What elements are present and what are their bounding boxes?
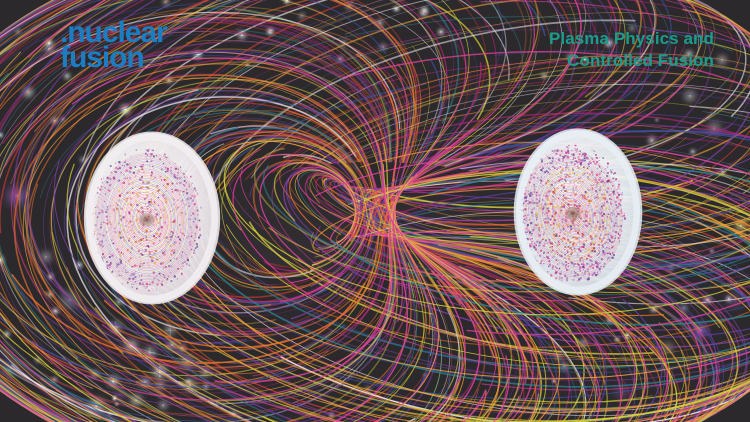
puncture-point bbox=[543, 195, 545, 197]
puncture-point bbox=[182, 207, 183, 208]
puncture-point bbox=[563, 204, 565, 206]
puncture-point bbox=[181, 226, 182, 227]
puncture-point bbox=[570, 243, 571, 244]
puncture-point bbox=[606, 201, 608, 203]
puncture-point bbox=[538, 229, 540, 231]
puncture-point bbox=[128, 183, 130, 185]
puncture-point bbox=[599, 238, 601, 240]
puncture-point bbox=[584, 244, 586, 246]
puncture-point bbox=[160, 275, 161, 276]
puncture-point bbox=[549, 184, 550, 185]
puncture-point bbox=[550, 196, 551, 197]
puncture-point bbox=[599, 157, 600, 158]
puncture-point bbox=[529, 243, 530, 244]
puncture-point bbox=[142, 208, 144, 210]
puncture-point bbox=[197, 210, 199, 212]
puncture-point bbox=[593, 244, 595, 246]
puncture-point bbox=[574, 163, 576, 165]
puncture-point bbox=[143, 285, 145, 287]
puncture-point bbox=[579, 205, 581, 207]
puncture-point bbox=[117, 168, 119, 170]
puncture-point bbox=[537, 252, 538, 253]
puncture-point bbox=[592, 187, 593, 188]
puncture-point bbox=[594, 181, 596, 183]
puncture-point bbox=[138, 226, 140, 228]
puncture-point bbox=[109, 251, 110, 252]
puncture-point bbox=[140, 207, 141, 208]
puncture-point bbox=[575, 149, 577, 151]
puncture-point bbox=[586, 263, 588, 265]
puncture-point bbox=[562, 240, 564, 242]
puncture-point bbox=[126, 164, 128, 166]
puncture-point bbox=[158, 222, 160, 224]
puncture-point bbox=[575, 272, 577, 274]
puncture-point bbox=[124, 162, 126, 164]
puncture-point bbox=[555, 235, 557, 237]
puncture-point bbox=[599, 173, 601, 175]
puncture-point bbox=[133, 233, 134, 234]
puncture-point bbox=[165, 244, 167, 246]
puncture-point bbox=[182, 262, 184, 264]
puncture-point bbox=[570, 195, 571, 196]
puncture-point bbox=[541, 158, 543, 160]
puncture-point bbox=[574, 161, 575, 162]
puncture-point bbox=[151, 210, 152, 211]
puncture-point bbox=[577, 232, 579, 234]
puncture-point bbox=[166, 157, 167, 158]
puncture-point bbox=[109, 253, 110, 254]
puncture-point bbox=[187, 177, 188, 178]
puncture-point bbox=[544, 237, 545, 238]
puncture-point bbox=[590, 235, 592, 237]
puncture-point bbox=[562, 241, 563, 242]
puncture-point bbox=[548, 266, 549, 267]
puncture-point bbox=[157, 283, 159, 285]
puncture-point bbox=[177, 178, 179, 180]
puncture-point bbox=[162, 216, 164, 218]
puncture-point bbox=[133, 216, 134, 217]
puncture-point bbox=[606, 175, 608, 177]
puncture-point bbox=[596, 266, 598, 268]
puncture-point bbox=[536, 202, 538, 204]
puncture-point bbox=[565, 267, 566, 268]
puncture-point bbox=[599, 263, 600, 264]
puncture-point bbox=[621, 209, 622, 210]
puncture-point bbox=[99, 233, 101, 235]
puncture-point bbox=[563, 227, 564, 228]
puncture-point bbox=[127, 232, 128, 233]
puncture-point bbox=[132, 245, 133, 246]
puncture-point bbox=[570, 176, 571, 177]
puncture-point bbox=[142, 209, 143, 210]
puncture-point bbox=[609, 194, 611, 196]
puncture-point bbox=[593, 150, 595, 152]
puncture-point bbox=[166, 187, 167, 188]
puncture-point bbox=[542, 171, 544, 173]
puncture-point bbox=[544, 163, 546, 165]
puncture-point bbox=[585, 214, 586, 215]
puncture-point bbox=[550, 169, 551, 170]
puncture-point bbox=[564, 190, 566, 192]
puncture-point bbox=[547, 238, 548, 239]
puncture-point bbox=[532, 209, 533, 210]
puncture-point bbox=[601, 220, 603, 222]
puncture-point bbox=[157, 185, 158, 186]
puncture-point bbox=[127, 192, 129, 194]
puncture-point bbox=[593, 222, 594, 223]
puncture-point bbox=[121, 218, 123, 220]
puncture-point bbox=[565, 230, 567, 232]
puncture-point bbox=[605, 243, 606, 244]
puncture-point bbox=[541, 177, 542, 178]
puncture-point bbox=[616, 220, 617, 221]
puncture-point bbox=[594, 242, 595, 243]
puncture-point bbox=[175, 236, 176, 237]
puncture-point bbox=[583, 275, 584, 276]
puncture-point bbox=[166, 282, 167, 283]
puncture-point bbox=[587, 271, 588, 272]
puncture-point bbox=[117, 264, 118, 265]
puncture-point bbox=[565, 197, 567, 199]
puncture-point bbox=[563, 225, 564, 226]
puncture-point bbox=[587, 250, 588, 251]
puncture-point bbox=[584, 256, 586, 258]
puncture-point bbox=[154, 253, 156, 255]
puncture-point bbox=[550, 186, 551, 187]
puncture-point bbox=[161, 283, 163, 285]
puncture-point bbox=[103, 207, 104, 208]
puncture-point bbox=[159, 158, 161, 160]
puncture-point bbox=[575, 161, 576, 162]
puncture-point bbox=[188, 186, 190, 188]
puncture-point bbox=[604, 247, 606, 249]
puncture-point bbox=[195, 219, 196, 220]
puncture-point bbox=[122, 182, 123, 183]
puncture-point bbox=[537, 170, 538, 171]
puncture-point bbox=[142, 254, 143, 255]
puncture-point bbox=[565, 222, 566, 223]
puncture-point bbox=[603, 181, 604, 182]
puncture-point bbox=[164, 215, 166, 217]
puncture-point bbox=[550, 219, 552, 221]
puncture-point bbox=[104, 210, 105, 211]
puncture-point bbox=[557, 244, 559, 246]
puncture-point bbox=[162, 250, 163, 251]
puncture-point bbox=[568, 186, 569, 187]
puncture-point bbox=[127, 198, 128, 199]
puncture-point bbox=[142, 227, 144, 229]
puncture-point bbox=[565, 152, 567, 154]
puncture-point bbox=[596, 217, 597, 218]
puncture-point bbox=[125, 270, 127, 272]
puncture-point bbox=[567, 192, 568, 193]
puncture-point bbox=[573, 168, 574, 169]
puncture-point bbox=[607, 216, 608, 217]
puncture-point bbox=[110, 178, 111, 179]
puncture-point bbox=[550, 215, 551, 216]
puncture-point bbox=[124, 166, 125, 167]
puncture-point bbox=[611, 242, 612, 243]
puncture-point bbox=[539, 200, 541, 202]
puncture-point bbox=[112, 205, 114, 207]
puncture-point bbox=[170, 253, 171, 254]
puncture-point bbox=[132, 173, 133, 174]
puncture-point bbox=[547, 234, 548, 235]
puncture-point bbox=[585, 198, 586, 199]
puncture-point bbox=[544, 176, 545, 177]
puncture-point bbox=[558, 215, 560, 217]
puncture-point bbox=[525, 208, 527, 210]
puncture-point bbox=[561, 254, 563, 256]
puncture-point bbox=[559, 235, 561, 237]
puncture-point bbox=[597, 210, 598, 211]
puncture-point bbox=[600, 186, 601, 187]
puncture-point bbox=[177, 172, 179, 174]
puncture-point bbox=[179, 243, 180, 244]
puncture-point bbox=[160, 217, 162, 219]
puncture-point bbox=[179, 177, 181, 179]
puncture-point bbox=[129, 191, 131, 193]
puncture-point bbox=[192, 246, 193, 247]
puncture-point bbox=[121, 260, 123, 262]
puncture-point bbox=[127, 283, 128, 284]
puncture-point bbox=[580, 277, 582, 279]
puncture-point bbox=[609, 239, 610, 240]
puncture-point bbox=[548, 191, 549, 192]
puncture-point bbox=[98, 197, 99, 198]
puncture-point bbox=[600, 172, 601, 173]
puncture-point bbox=[564, 174, 565, 175]
puncture-point bbox=[610, 257, 611, 258]
puncture-point bbox=[564, 233, 565, 234]
puncture-point bbox=[174, 258, 175, 259]
puncture-point bbox=[546, 170, 548, 172]
puncture-point bbox=[604, 256, 605, 257]
puncture-point bbox=[168, 276, 169, 277]
puncture-point bbox=[123, 239, 125, 241]
puncture-point bbox=[142, 283, 144, 285]
puncture-point bbox=[553, 230, 555, 232]
puncture-point bbox=[527, 226, 528, 227]
puncture-point bbox=[591, 238, 593, 240]
puncture-point bbox=[623, 215, 625, 217]
puncture-point bbox=[545, 225, 546, 226]
puncture-point bbox=[585, 232, 587, 234]
puncture-point bbox=[572, 200, 573, 201]
puncture-point bbox=[123, 267, 124, 268]
puncture-point bbox=[537, 227, 539, 229]
puncture-point bbox=[575, 188, 576, 189]
puncture-point bbox=[588, 234, 589, 235]
puncture-point bbox=[555, 266, 556, 267]
puncture-point bbox=[152, 288, 153, 289]
puncture-point bbox=[183, 266, 184, 267]
puncture-point bbox=[553, 234, 555, 236]
puncture-point bbox=[558, 241, 560, 243]
puncture-point bbox=[534, 189, 535, 190]
puncture-point bbox=[566, 253, 567, 254]
puncture-point bbox=[559, 268, 560, 269]
puncture-point bbox=[580, 159, 582, 161]
puncture-point bbox=[94, 232, 95, 233]
puncture-point bbox=[598, 250, 599, 251]
puncture-point bbox=[616, 189, 617, 190]
puncture-point bbox=[594, 203, 595, 204]
puncture-point bbox=[125, 225, 127, 227]
puncture-point bbox=[145, 157, 146, 158]
puncture-point bbox=[598, 236, 599, 237]
puncture-point bbox=[587, 158, 589, 160]
puncture-point bbox=[166, 177, 168, 179]
puncture-point bbox=[132, 266, 133, 267]
puncture-point bbox=[190, 176, 192, 178]
puncture-point bbox=[111, 240, 113, 242]
puncture-point bbox=[143, 238, 144, 239]
puncture-point bbox=[622, 192, 623, 193]
puncture-point bbox=[603, 172, 605, 174]
puncture-point bbox=[191, 249, 192, 250]
puncture-point bbox=[592, 174, 594, 176]
puncture-point bbox=[608, 218, 610, 220]
puncture-point bbox=[113, 188, 114, 189]
puncture-point bbox=[584, 273, 585, 274]
puncture-point bbox=[555, 251, 556, 252]
puncture-point bbox=[156, 187, 158, 189]
puncture-point bbox=[543, 220, 545, 222]
puncture-point bbox=[588, 255, 590, 257]
puncture-point bbox=[111, 213, 112, 214]
puncture-point bbox=[197, 220, 198, 221]
puncture-point bbox=[566, 157, 568, 159]
nuclear-fusion-logo[interactable]: .nuclear fusion bbox=[60, 20, 167, 70]
puncture-point bbox=[617, 192, 619, 194]
puncture-point bbox=[133, 182, 134, 183]
puncture-point bbox=[544, 242, 545, 243]
puncture-point bbox=[156, 237, 157, 238]
puncture-point bbox=[184, 204, 186, 206]
puncture-point bbox=[602, 203, 603, 204]
puncture-point bbox=[604, 254, 606, 256]
puncture-point bbox=[123, 253, 124, 254]
puncture-point bbox=[128, 223, 129, 224]
puncture-point bbox=[133, 181, 135, 183]
puncture-point bbox=[98, 234, 99, 235]
puncture-point bbox=[614, 246, 615, 247]
puncture-point bbox=[555, 161, 556, 162]
puncture-point bbox=[146, 239, 148, 241]
puncture-point bbox=[119, 231, 121, 233]
magnetic-axis-spot bbox=[139, 213, 155, 227]
puncture-point bbox=[179, 192, 181, 194]
puncture-point bbox=[122, 186, 123, 187]
puncture-point bbox=[540, 250, 542, 252]
puncture-point bbox=[558, 188, 559, 189]
puncture-point bbox=[153, 290, 154, 291]
puncture-point bbox=[542, 208, 544, 210]
puncture-point bbox=[524, 223, 525, 224]
puncture-point bbox=[592, 214, 593, 215]
puncture-point bbox=[599, 226, 600, 227]
puncture-point bbox=[587, 278, 589, 280]
puncture-point bbox=[590, 260, 591, 261]
puncture-point bbox=[611, 236, 613, 238]
puncture-point bbox=[557, 264, 558, 265]
puncture-point bbox=[143, 240, 145, 242]
puncture-point bbox=[569, 161, 570, 162]
puncture-point bbox=[150, 156, 152, 158]
puncture-point bbox=[106, 223, 108, 225]
puncture-point bbox=[588, 248, 589, 249]
puncture-point bbox=[564, 249, 565, 250]
puncture-point bbox=[582, 228, 583, 229]
puncture-point bbox=[137, 265, 139, 267]
puncture-point bbox=[529, 195, 531, 197]
puncture-point bbox=[101, 240, 103, 242]
puncture-point bbox=[540, 208, 542, 210]
puncture-point bbox=[182, 233, 184, 235]
puncture-point bbox=[599, 177, 600, 178]
puncture-point bbox=[599, 226, 601, 228]
puncture-point bbox=[541, 165, 543, 167]
puncture-point bbox=[149, 284, 151, 286]
puncture-point bbox=[552, 267, 553, 268]
puncture-point bbox=[611, 220, 613, 222]
puncture-point bbox=[578, 237, 580, 239]
puncture-point bbox=[545, 195, 547, 197]
puncture-point bbox=[151, 256, 153, 258]
puncture-point bbox=[582, 195, 584, 197]
puncture-point bbox=[158, 260, 160, 262]
puncture-point bbox=[191, 195, 193, 197]
puncture-point bbox=[122, 271, 123, 272]
puncture-point bbox=[563, 195, 565, 197]
puncture-point bbox=[603, 186, 604, 187]
puncture-point bbox=[179, 224, 181, 226]
puncture-point bbox=[595, 274, 597, 276]
puncture-point bbox=[172, 235, 173, 236]
puncture-point bbox=[567, 251, 569, 253]
puncture-point bbox=[147, 206, 148, 207]
puncture-point bbox=[591, 250, 593, 252]
puncture-point bbox=[533, 177, 535, 179]
puncture-point bbox=[599, 251, 600, 252]
puncture-point bbox=[581, 211, 583, 213]
puncture-point bbox=[567, 174, 569, 176]
puncture-point bbox=[540, 236, 541, 237]
puncture-point bbox=[592, 159, 593, 160]
puncture-point bbox=[578, 241, 579, 242]
puncture-point bbox=[167, 170, 169, 172]
puncture-point bbox=[540, 216, 541, 217]
puncture-point bbox=[200, 207, 202, 209]
puncture-point bbox=[158, 205, 159, 206]
puncture-point bbox=[137, 197, 138, 198]
puncture-point bbox=[577, 263, 579, 265]
puncture-point bbox=[132, 227, 133, 228]
puncture-point bbox=[563, 229, 564, 230]
puncture-point bbox=[170, 234, 171, 235]
puncture-point bbox=[122, 283, 123, 284]
puncture-point bbox=[554, 245, 555, 246]
puncture-point bbox=[539, 198, 540, 199]
puncture-point bbox=[116, 266, 118, 268]
puncture-point bbox=[578, 178, 580, 180]
puncture-point bbox=[617, 226, 618, 227]
puncture-point bbox=[542, 185, 543, 186]
puncture-point bbox=[581, 164, 582, 165]
puncture-point bbox=[188, 236, 189, 237]
puncture-point bbox=[119, 167, 121, 169]
